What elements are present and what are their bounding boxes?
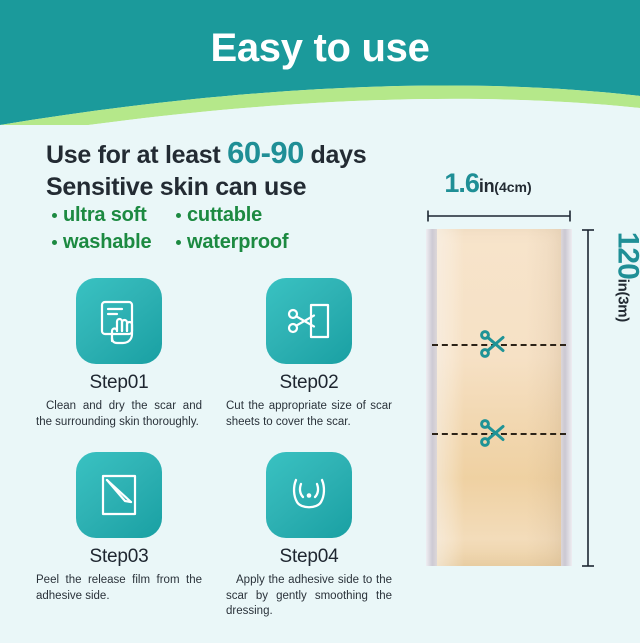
feature-item-cuttable: cuttable [176,204,262,227]
feature-row: ultra soft cuttable [52,204,382,227]
bullet-icon [52,213,57,218]
width-caliper [424,209,574,223]
header-banner: Easy to use [0,0,640,125]
step-2-tile [266,278,352,364]
left-column: Use for at least 60-90 days Sensitive sk… [0,126,420,643]
page-title: Easy to use [0,26,640,71]
infographic-page: Easy to use Use for at least 60-90 days … [0,0,640,643]
step-card-2: Step02 Cut the appropriate size of scar … [214,278,404,430]
width-value: 1.6 [444,168,479,198]
hand-wiping-sheet-icon [91,293,147,349]
bullet-icon [176,213,181,218]
feature-item-waterproof: waterproof [176,231,288,254]
length-value: 120 [611,232,640,279]
step-card-1: Step01 Clean and dry the scar and the su… [24,278,214,430]
bullet-icon [52,240,57,245]
step-1-title: Step01 [24,372,214,394]
step-card-3: Step03 Peel the release film from the ad… [24,452,214,620]
step-card-4: Step04 Apply the adhesive side to the sc… [214,452,404,620]
steps-grid: Step01 Clean and dry the scar and the su… [24,278,408,620]
feature-item-ultra-soft: ultra soft [52,204,176,227]
product-illustration: 1.6in(4cm) [404,126,640,643]
feature-label: cuttable [187,204,262,227]
tape-roll [426,229,572,566]
steps-row-1: Step01 Clean and dry the scar and the su… [24,278,408,430]
step-4-title: Step04 [214,546,404,568]
scissors-icon [476,416,510,450]
step-1-caption: Clean and dry the scar and the surroundi… [24,399,214,430]
steps-row-gap [24,430,408,452]
headline-block: Use for at least 60-90 days Sensitive sk… [46,136,416,201]
feature-list: ultra soft cuttable washable waterproof [52,204,382,258]
width-metric: (4cm) [494,179,531,195]
headline-suffix: days [304,141,366,169]
length-dimension-label: 120in(3m) [610,232,640,322]
step-3-caption: Peel the release film from the adhesive … [24,573,214,604]
feature-row: washable waterproof [52,231,382,254]
abdomen-icon [281,467,337,523]
length-caliper [580,226,596,570]
bullet-icon [176,240,181,245]
step-3-title: Step03 [24,546,214,568]
width-dimension-label: 1.6in(4cm) [404,168,572,199]
step-3-tile [76,452,162,538]
width-unit: in [479,176,494,196]
tape-sheen [437,229,561,566]
step-2-caption: Cut the appropriate size of scar sheets … [214,399,404,430]
step-1-tile [76,278,162,364]
steps-row-2: Step03 Peel the release film from the ad… [24,452,408,620]
scissors-cutting-sheet-icon [281,293,337,349]
feature-label: waterproof [187,231,288,254]
step-4-caption: Apply the adhesive side to the scar by g… [214,573,404,620]
scissors-icon [476,327,510,361]
length-unit: in(3m) [614,279,631,322]
feature-label: washable [63,231,151,254]
headline-line-1: Use for at least 60-90 days [46,136,416,171]
feature-item-washable: washable [52,231,176,254]
headline-line-2: Sensitive skin can use [46,173,416,201]
headline-prefix: Use for at least [46,141,227,169]
peel-film-icon [91,467,147,523]
step-2-title: Step02 [214,372,404,394]
step-4-tile [266,452,352,538]
feature-label: ultra soft [63,204,147,227]
headline-duration: 60-90 [227,135,304,170]
